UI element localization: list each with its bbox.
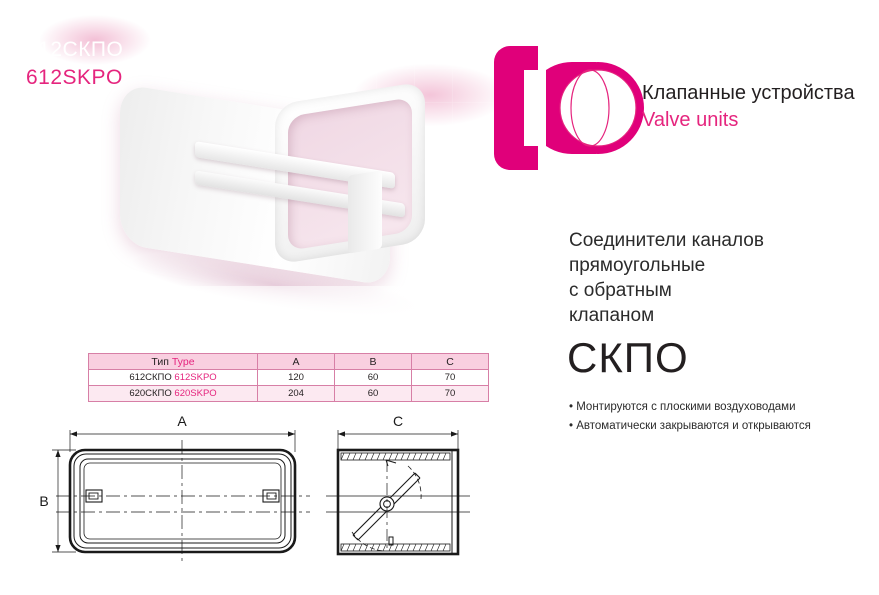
cell-a: 204 — [258, 386, 335, 402]
dimension-label-a: A — [177, 413, 187, 429]
cell-c: 70 — [412, 370, 489, 386]
dimension-label-b: B — [39, 493, 48, 509]
reflective-floor — [0, 286, 540, 340]
cell-type-en: 620SKPO — [174, 388, 216, 399]
cell-type-en: 612SKPO — [174, 372, 216, 383]
product-description: Соединители каналов прямоугольные с обра… — [569, 228, 869, 328]
front-view-drawing — [52, 430, 310, 564]
description-line-2: прямоугольные — [569, 253, 869, 278]
header-cell-b: B — [335, 354, 412, 370]
technical-drawings: A B C — [0, 404, 540, 584]
side-view-drawing — [326, 430, 470, 554]
description-line-4: клапаном — [569, 303, 869, 328]
cell-b: 60 — [335, 370, 412, 386]
table-header-row: Тип Type A B C — [89, 354, 489, 370]
header-type-en: Type — [172, 356, 195, 368]
description-line-3: с обратным — [569, 278, 869, 303]
cell-type: 620СКПО 620SKPO — [89, 386, 258, 402]
header-type-ru: Тип — [151, 356, 169, 368]
product-photo-duct-connector — [100, 95, 440, 295]
description-line-1: Соединители каналов — [569, 228, 869, 253]
dimension-label-c: C — [393, 413, 403, 429]
feature-bullet-list: • Монтируются с плоскими воздуховодами •… — [569, 398, 879, 436]
header-cell-type: Тип Type — [89, 354, 258, 370]
banner-title-ru: Клапанные устройства — [642, 82, 855, 105]
table-row: 620СКПО 620SKPO 204 60 70 — [89, 386, 489, 402]
product-series-code: СКПО — [567, 334, 689, 382]
hero-code-ru: 612СКПО — [26, 38, 123, 62]
hero-code-en: 612SKPO — [26, 66, 123, 90]
header-cell-a: A — [258, 354, 335, 370]
feature-bullet-2: • Автоматически закрываются и открываютс… — [569, 417, 879, 436]
feature-bullet-1: • Монтируются с плоскими воздуховодами — [569, 398, 879, 417]
cell-c: 70 — [412, 386, 489, 402]
specification-table: Тип Type A B C 612СКПО 612SKPO 120 60 70… — [88, 353, 489, 402]
cell-b: 60 — [335, 386, 412, 402]
banner-title-en: Valve units — [642, 109, 738, 132]
cell-type-ru: 612СКПО — [129, 372, 171, 383]
table-row: 612СКПО 612SKPO 120 60 70 — [89, 370, 489, 386]
hero-photo-panel: 612СКПО 612SKPO — [0, 0, 540, 340]
cell-type: 612СКПО 612SKPO — [89, 370, 258, 386]
duct-damper-disc-icon — [546, 58, 646, 158]
cell-a: 120 — [258, 370, 335, 386]
duct-side-post — [348, 170, 382, 253]
header-cell-c: C — [412, 354, 489, 370]
cell-type-ru: 620СКПО — [129, 388, 171, 399]
category-banner: Клапанные устройства Valve units — [494, 46, 879, 170]
